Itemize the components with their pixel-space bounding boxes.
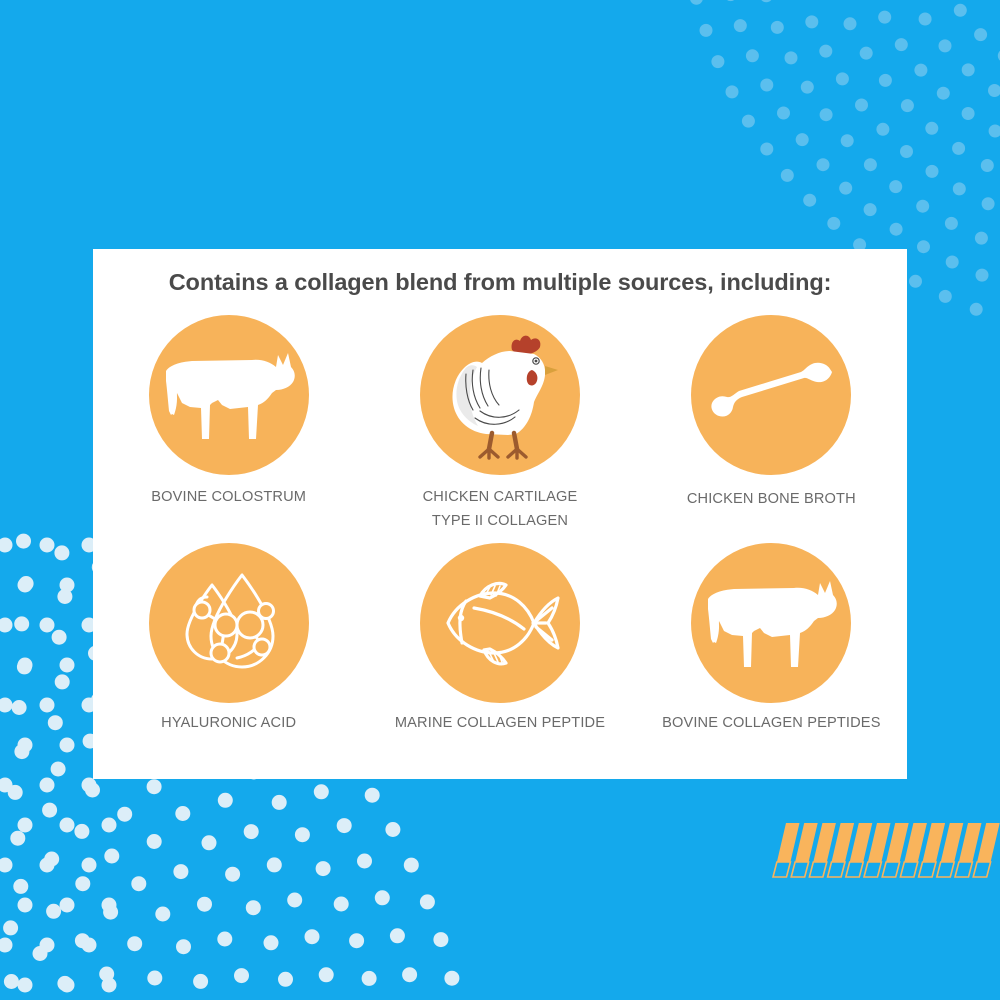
source-item-bovine-colostrum: BOVINE COLOSTRUM bbox=[93, 315, 364, 547]
icon-badge bbox=[420, 315, 580, 475]
source-label: CHICKEN BONE BROTH bbox=[687, 488, 856, 512]
chicken-icon bbox=[442, 330, 558, 460]
cow-icon bbox=[702, 573, 840, 673]
collagen-sources-card: Contains a collagen blend from multiple … bbox=[93, 249, 907, 779]
source-label: BOVINE COLLAGEN PEPTIDES bbox=[662, 712, 881, 736]
source-item-chicken-cartilage: CHICKEN CARTILAGE TYPE II COLLAGEN bbox=[364, 315, 635, 547]
source-label: HYALURONIC ACID bbox=[161, 712, 296, 736]
source-label: CHICKEN CARTILAGE TYPE II COLLAGEN bbox=[423, 486, 578, 533]
icon-badge bbox=[691, 315, 851, 475]
sources-row-1: BOVINE COLOSTRUM bbox=[93, 315, 907, 547]
source-item-marine-collagen-peptide: MARINE COLLAGEN PEPTIDE bbox=[364, 543, 635, 775]
icon-badge bbox=[420, 543, 580, 703]
cow-icon bbox=[160, 345, 298, 445]
sources-grid: BOVINE COLOSTRUM bbox=[93, 315, 907, 779]
fish-icon bbox=[436, 577, 564, 669]
droplet-molecule-icon bbox=[169, 563, 289, 683]
sources-row-2: HYALURONIC ACID bbox=[93, 543, 907, 775]
icon-badge bbox=[149, 315, 309, 475]
source-label: BOVINE COLOSTRUM bbox=[151, 486, 306, 510]
icon-badge bbox=[691, 543, 851, 703]
source-item-bovine-collagen-peptides: BOVINE COLLAGEN PEPTIDES bbox=[636, 543, 907, 775]
source-label: MARINE COLLAGEN PEPTIDE bbox=[395, 712, 605, 736]
bone-icon bbox=[706, 360, 836, 430]
page-title: Contains a collagen blend from multiple … bbox=[93, 269, 907, 296]
icon-badge bbox=[149, 543, 309, 703]
source-item-hyaluronic-acid: HYALURONIC ACID bbox=[93, 543, 364, 775]
source-item-chicken-bone-broth: CHICKEN BONE BROTH bbox=[636, 315, 907, 547]
